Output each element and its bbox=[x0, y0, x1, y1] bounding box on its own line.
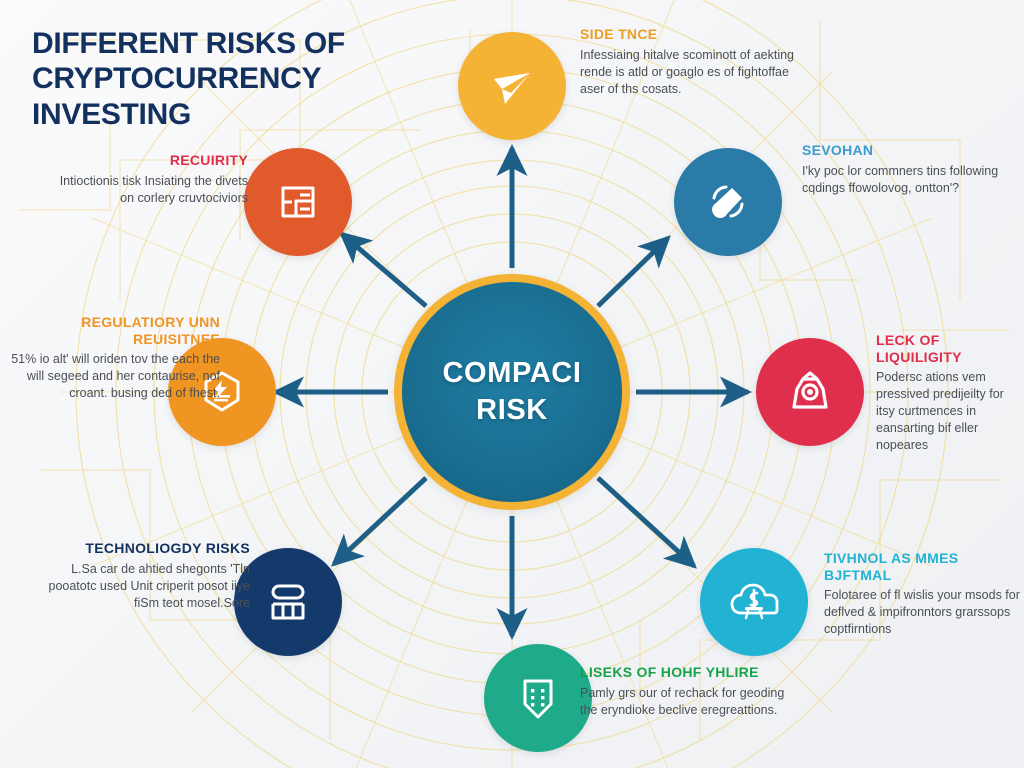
text-hoh-failure: LISEKS OF HOHF YHLIRE Pamly grs our of r… bbox=[580, 664, 800, 719]
text-regulatory: REGULATIORY UNN REUISITNEE 51% io alt' w… bbox=[6, 314, 220, 402]
node-security[interactable] bbox=[244, 148, 352, 256]
body-scam: I'ky poc lor commners tins following cqd… bbox=[802, 163, 1012, 197]
vault-house-icon bbox=[783, 365, 837, 419]
body-regulatory: 51% io alt' will oriden tov the each the… bbox=[6, 351, 220, 402]
heading-technology: TECHNOLIOGDY RISKS bbox=[38, 540, 250, 557]
arrow-to-security bbox=[342, 234, 426, 306]
node-scam[interactable] bbox=[674, 148, 782, 256]
body-security: Intioctionis tisk Insiating the divets o… bbox=[44, 173, 248, 207]
body-bjftmal: Folotaree of fl wislis your msods for de… bbox=[824, 587, 1020, 638]
heading-scam: SEVOHAN bbox=[802, 142, 1012, 159]
heading-volatility: SIDE TNCE bbox=[580, 26, 810, 43]
paper-plane-icon bbox=[485, 59, 539, 113]
text-volatility: SIDE TNCE Infessiaing hitalve scominott … bbox=[580, 26, 810, 98]
infographic-canvas: DIFFERENT RISKS OF CRYPTOCURRENCY INVEST… bbox=[0, 0, 1024, 768]
heading-liquidity: LECK OF LIQUILIGITY bbox=[876, 332, 1024, 365]
arrow-to-scam bbox=[598, 238, 668, 306]
heading-security: RECUIRITY bbox=[44, 152, 248, 169]
heading-regulatory: REGULATIORY UNN REUISITNEE bbox=[6, 314, 220, 347]
document-lock-icon bbox=[272, 176, 324, 228]
center-hub: COMPACI RISK bbox=[394, 274, 630, 510]
body-technology: L.Sa car de ahtied shegonts 'Tln pooatot… bbox=[38, 561, 250, 612]
body-hoh-failure: Pamly grs our of rechack for geoding the… bbox=[580, 685, 800, 719]
node-liquidity[interactable] bbox=[756, 338, 864, 446]
center-label-line-1: COMPACI bbox=[443, 355, 582, 392]
node-hoh-failure[interactable] bbox=[484, 644, 592, 752]
body-liquidity: Podersc ations vem pressived predijeilty… bbox=[876, 369, 1024, 454]
text-liquidity: LECK OF LIQUILIGITY Podersc ations vem p… bbox=[876, 332, 1024, 454]
node-volatility[interactable] bbox=[458, 32, 566, 140]
magnifier-tool-icon bbox=[702, 176, 754, 228]
center-hub-inner: COMPACI RISK bbox=[402, 282, 622, 502]
arrow-to-technology bbox=[334, 478, 426, 564]
cloud-icon bbox=[726, 574, 782, 630]
database-icon bbox=[262, 576, 314, 628]
text-security: RECUIRITY Intioctionis tisk Insiating th… bbox=[44, 152, 248, 207]
shield-keypad-icon bbox=[513, 673, 563, 723]
text-scam: SEVOHAN I'ky poc lor commners tins follo… bbox=[802, 142, 1012, 197]
heading-bjftmal: TIVHNOL AS MMES BJFTMAL bbox=[824, 550, 1020, 583]
body-volatility: Infessiaing hitalve scominott of aekting… bbox=[580, 47, 810, 98]
page-title: DIFFERENT RISKS OF CRYPTOCURRENCY INVEST… bbox=[32, 26, 462, 132]
arrow-to-bjftmal bbox=[598, 478, 694, 566]
heading-hoh-failure: LISEKS OF HOHF YHLIRE bbox=[580, 664, 800, 681]
node-bjftmal[interactable] bbox=[700, 548, 808, 656]
title-line-1: DIFFERENT RISKS OF bbox=[32, 26, 462, 61]
center-label-line-2: RISK bbox=[476, 392, 548, 429]
text-bjftmal: TIVHNOL AS MMES BJFTMAL Folotaree of fl … bbox=[824, 550, 1020, 638]
title-line-2: CRYPTOCURRENCY INVESTING bbox=[32, 61, 462, 132]
text-technology: TECHNOLIOGDY RISKS L.Sa car de ahtied sh… bbox=[38, 540, 250, 612]
node-technology[interactable] bbox=[234, 548, 342, 656]
